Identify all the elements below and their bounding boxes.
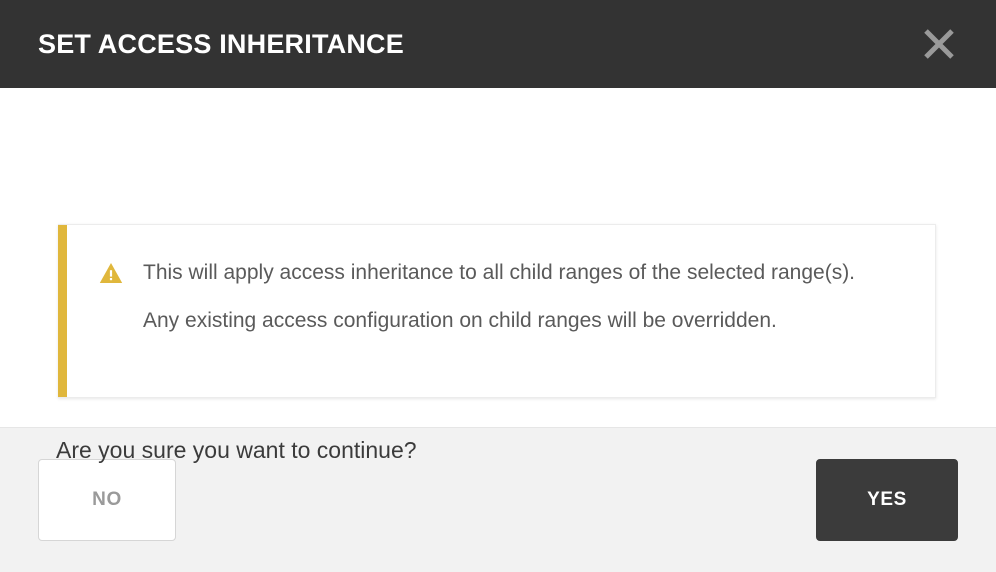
- confirmation-question: Are you sure you want to continue?: [56, 433, 417, 467]
- dialog-title: SET ACCESS INHERITANCE: [38, 31, 404, 58]
- warning-banner: This will apply access inheritance to al…: [58, 224, 936, 398]
- set-access-inheritance-dialog: SET ACCESS INHERITANCE: [0, 0, 996, 572]
- dialog-header: SET ACCESS INHERITANCE: [0, 0, 996, 88]
- yes-button[interactable]: YES: [816, 459, 958, 541]
- no-button[interactable]: NO: [38, 459, 176, 541]
- dialog-body: This will apply access inheritance to al…: [0, 88, 996, 427]
- warning-message: This will apply access inheritance to al…: [143, 249, 863, 345]
- warning-accent-bar: [58, 225, 67, 397]
- close-button[interactable]: [912, 17, 966, 71]
- close-icon: [919, 24, 959, 64]
- warning-triangle-icon: [99, 261, 123, 285]
- warning-content: This will apply access inheritance to al…: [67, 225, 893, 369]
